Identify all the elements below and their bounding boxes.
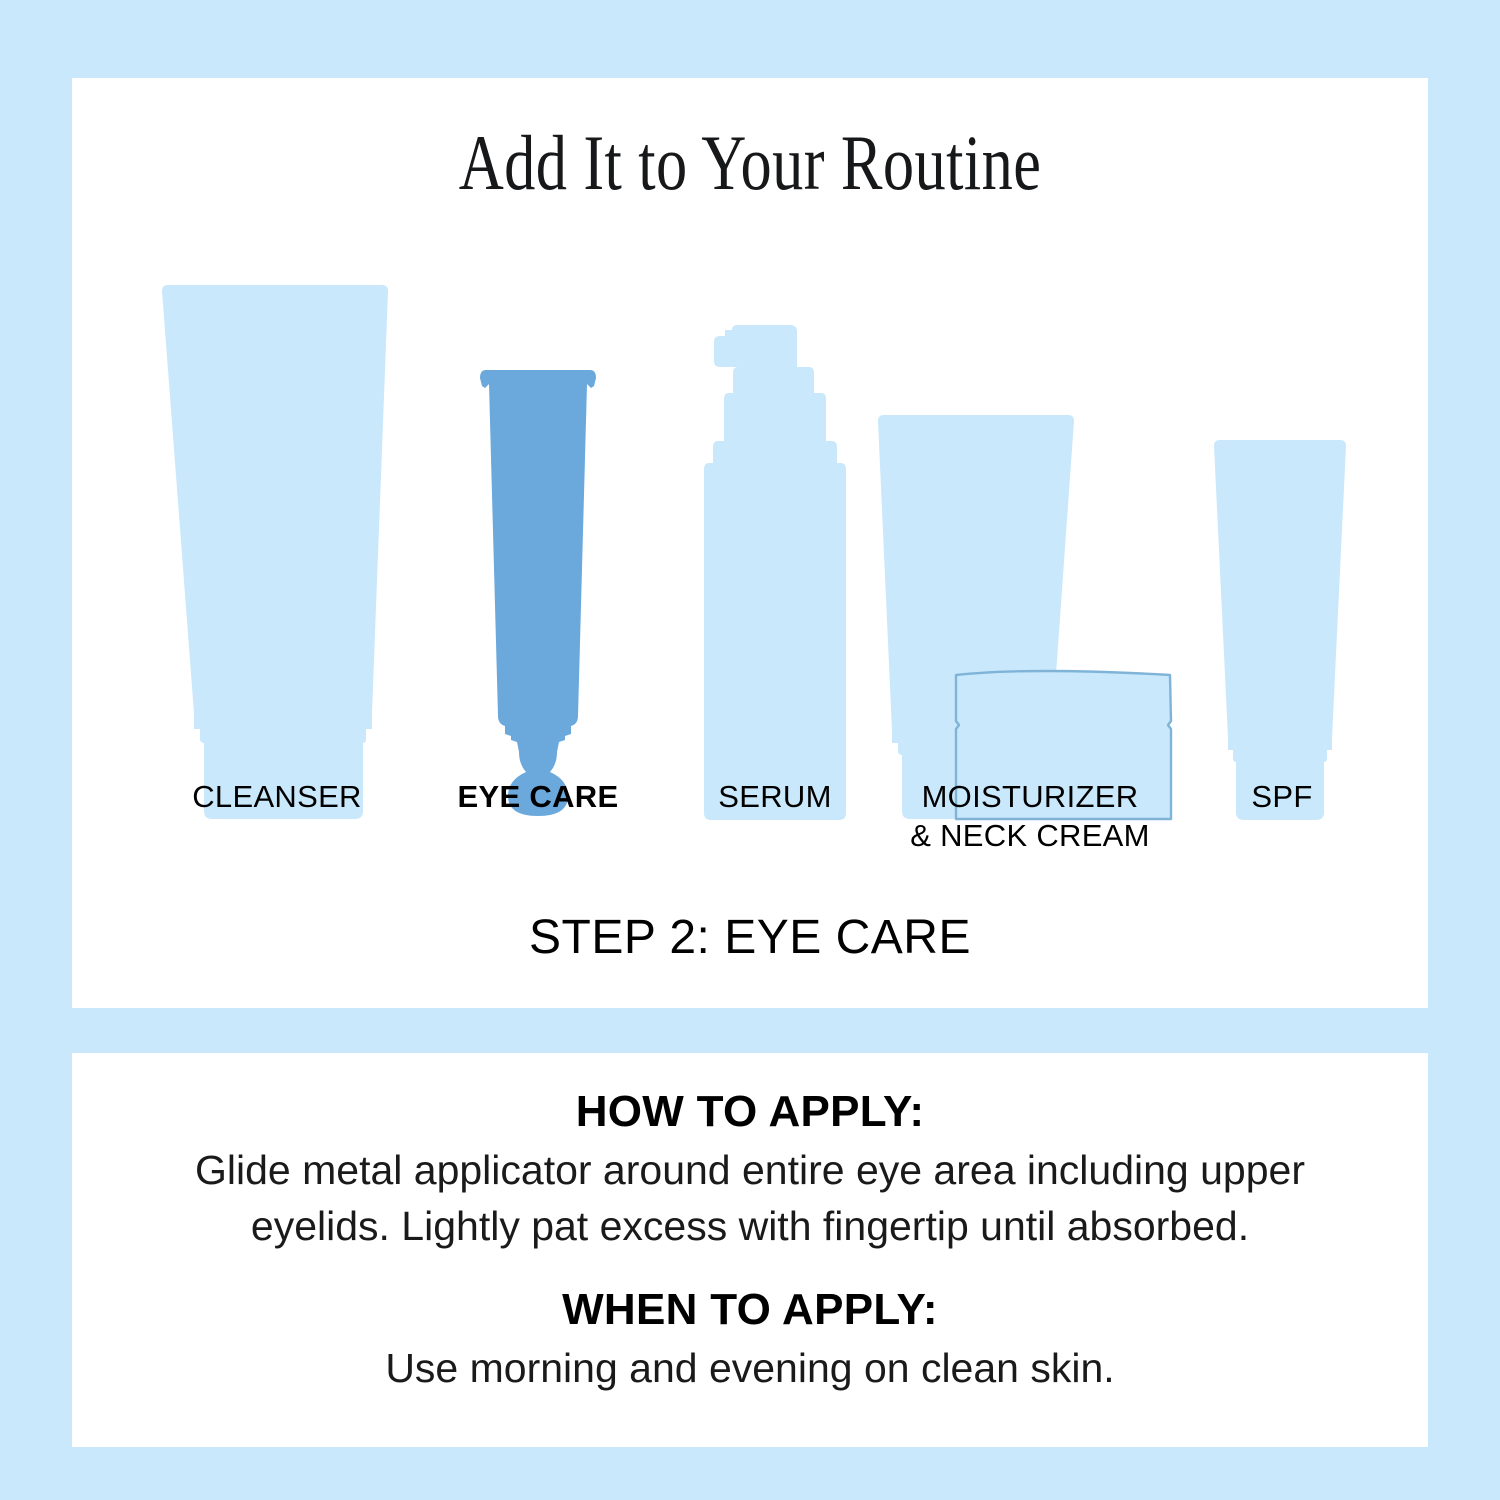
product-label-spf: SPF bbox=[1162, 778, 1402, 817]
product-labels: CLEANSER EYE CARE SERUM MOISTURIZER& NEC… bbox=[72, 778, 1428, 898]
step-heading: STEP 2: EYE CARE bbox=[72, 910, 1428, 965]
how-to-apply-body: Glide metal applicator around entire eye… bbox=[150, 1143, 1350, 1255]
routine-panel: Add It to Your Routine bbox=[72, 78, 1428, 1008]
tube-spf-icon bbox=[1200, 438, 1360, 828]
product-cleanser bbox=[150, 283, 400, 828]
how-to-apply-heading: HOW TO APPLY: bbox=[132, 1087, 1368, 1137]
apply-content: HOW TO APPLY: Glide metal applicator aro… bbox=[72, 1053, 1428, 1447]
tube-jar-moisturizer-icon bbox=[860, 413, 1200, 828]
when-to-apply-body: Use morning and evening on clean skin. bbox=[150, 1341, 1350, 1397]
apply-panel: HOW TO APPLY: Glide metal applicator aro… bbox=[72, 1053, 1428, 1447]
tube-cleanser-icon bbox=[150, 283, 400, 828]
infographic-page: Add It to Your Routine bbox=[0, 0, 1500, 1500]
product-spf bbox=[1200, 438, 1360, 828]
page-title: Add It to Your Routine bbox=[208, 118, 1293, 208]
tube-eyecare-icon bbox=[458, 348, 618, 828]
pump-bottle-serum-icon bbox=[690, 323, 860, 828]
product-moisturizer bbox=[860, 413, 1200, 828]
when-to-apply-heading: WHEN TO APPLY: bbox=[132, 1285, 1368, 1335]
product-serum bbox=[690, 323, 860, 828]
product-eyecare bbox=[458, 348, 618, 828]
product-row bbox=[72, 208, 1428, 828]
